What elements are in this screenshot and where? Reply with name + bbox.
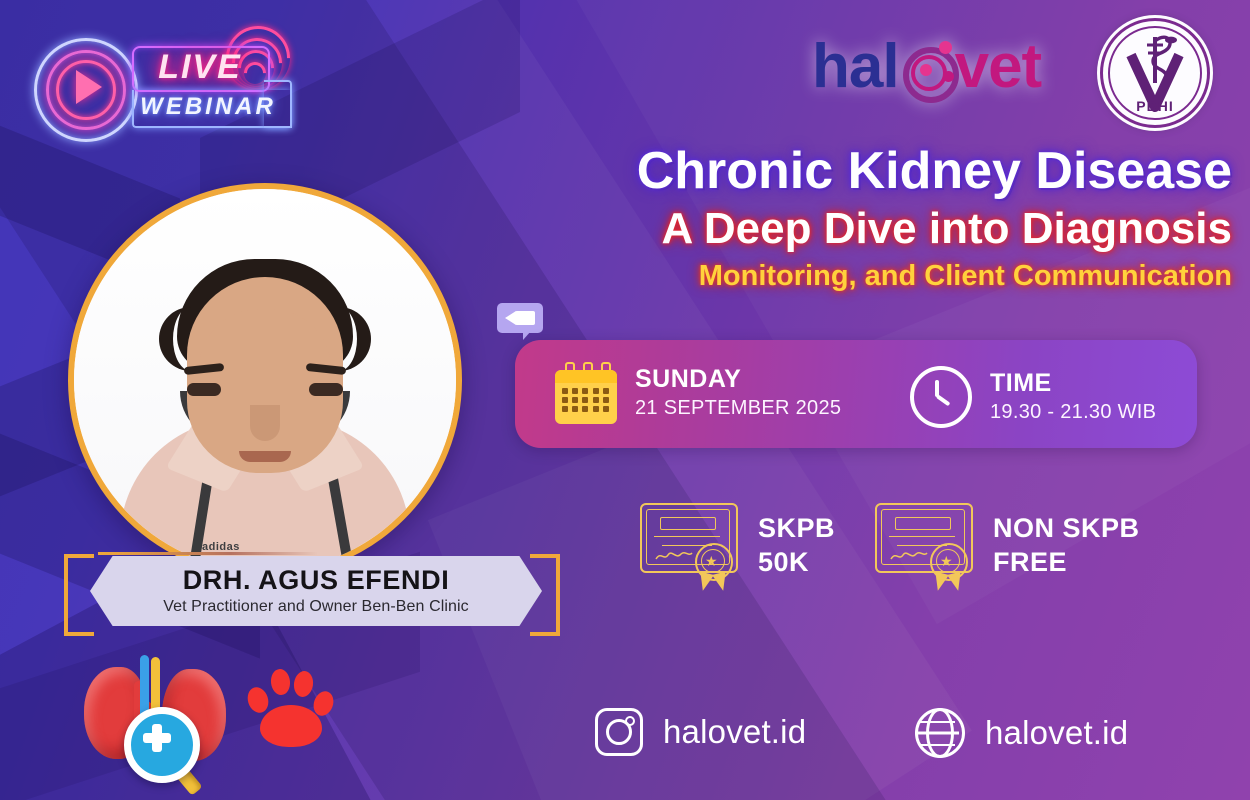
- schedule-time-group: TIME 19.30 - 21.30 WIB: [910, 366, 1156, 428]
- pricing-value: FREE: [993, 545, 1140, 579]
- stethoscope-o-icon: [899, 41, 955, 97]
- seal-label: PDHI: [1103, 98, 1207, 114]
- pricing-item-skpb: ★ SKPB 50K: [640, 503, 835, 587]
- website-handle[interactable]: halovet.id: [985, 714, 1128, 752]
- instagram-handle-group[interactable]: halovet.id: [595, 708, 806, 756]
- pricing-row: ★ SKPB 50K ★: [640, 495, 1200, 605]
- footer-social: halovet.id halovet.id: [595, 700, 1195, 762]
- logo-text-hal: hal: [812, 32, 899, 101]
- pricing-label: NON SKPB: [993, 511, 1140, 545]
- pricing-label: SKPB: [758, 511, 835, 545]
- calendar-icon: [555, 362, 617, 424]
- webinar-poster: LIVE WEBINAR hal vet PDHI Chronic Kidney…: [0, 0, 1250, 800]
- schedule-date-label: SUNDAY: [635, 364, 841, 394]
- speaker-role: Vet Practitioner and Owner Ben-Ben Clini…: [163, 596, 469, 618]
- title-line-2: A Deep Dive into Diagnosis: [472, 202, 1232, 256]
- live-webinar-badge: LIVE WEBINAR: [28, 18, 296, 136]
- instagram-icon[interactable]: [595, 708, 643, 756]
- schedule-time-value: 19.30 - 21.30 WIB: [990, 398, 1156, 426]
- speaker-portrait: adidas: [68, 183, 462, 577]
- speaker-name: DRH. AGUS EFENDI: [183, 564, 450, 596]
- plate-accent-line: [98, 552, 318, 555]
- signature-icon: [889, 549, 929, 563]
- webinar-label: WEBINAR: [138, 92, 278, 122]
- certificate-icon: ★: [640, 503, 740, 587]
- schedule-bar: SUNDAY 21 SEPTEMBER 2025 TIME 19.30 - 21…: [515, 340, 1197, 448]
- signature-icon: [654, 549, 694, 563]
- logo-text-vet: vet: [955, 32, 1042, 101]
- plate-chevron-left-icon: [64, 554, 94, 636]
- title-block: Chronic Kidney Disease A Deep Dive into …: [472, 140, 1232, 296]
- pricing-item-non-skpb: ★ NON SKPB FREE: [875, 503, 1140, 587]
- title-line-3: Monitoring, and Client Communication: [472, 256, 1232, 296]
- pdhi-seal: PDHI: [1100, 18, 1210, 128]
- halovet-logo: hal vet: [812, 32, 1041, 102]
- plate-body: DRH. AGUS EFENDI Vet Practitioner and Ow…: [90, 556, 542, 626]
- clock-icon: [910, 366, 972, 428]
- instagram-handle[interactable]: halovet.id: [663, 713, 806, 751]
- live-label: LIVE: [140, 48, 260, 86]
- schedule-time-label: TIME: [990, 368, 1156, 398]
- globe-icon[interactable]: [915, 708, 965, 758]
- play-icon: [76, 70, 102, 104]
- schedule-date-value: 21 SEPTEMBER 2025: [635, 394, 841, 422]
- magnifier-medical-icon: [124, 707, 200, 783]
- website-handle-group[interactable]: halovet.id: [915, 708, 1128, 758]
- certificate-icon: ★: [875, 503, 975, 587]
- title-line-1: Chronic Kidney Disease: [472, 140, 1232, 202]
- pricing-value: 50K: [758, 545, 835, 579]
- speaker-name-plate: DRH. AGUS EFENDI Vet Practitioner and Ow…: [62, 552, 562, 630]
- schedule-date-group: SUNDAY 21 SEPTEMBER 2025: [555, 362, 841, 424]
- kidney-illustration: [78, 655, 228, 790]
- paw-print-icon: [246, 665, 332, 745]
- video-chat-icon: [497, 303, 543, 337]
